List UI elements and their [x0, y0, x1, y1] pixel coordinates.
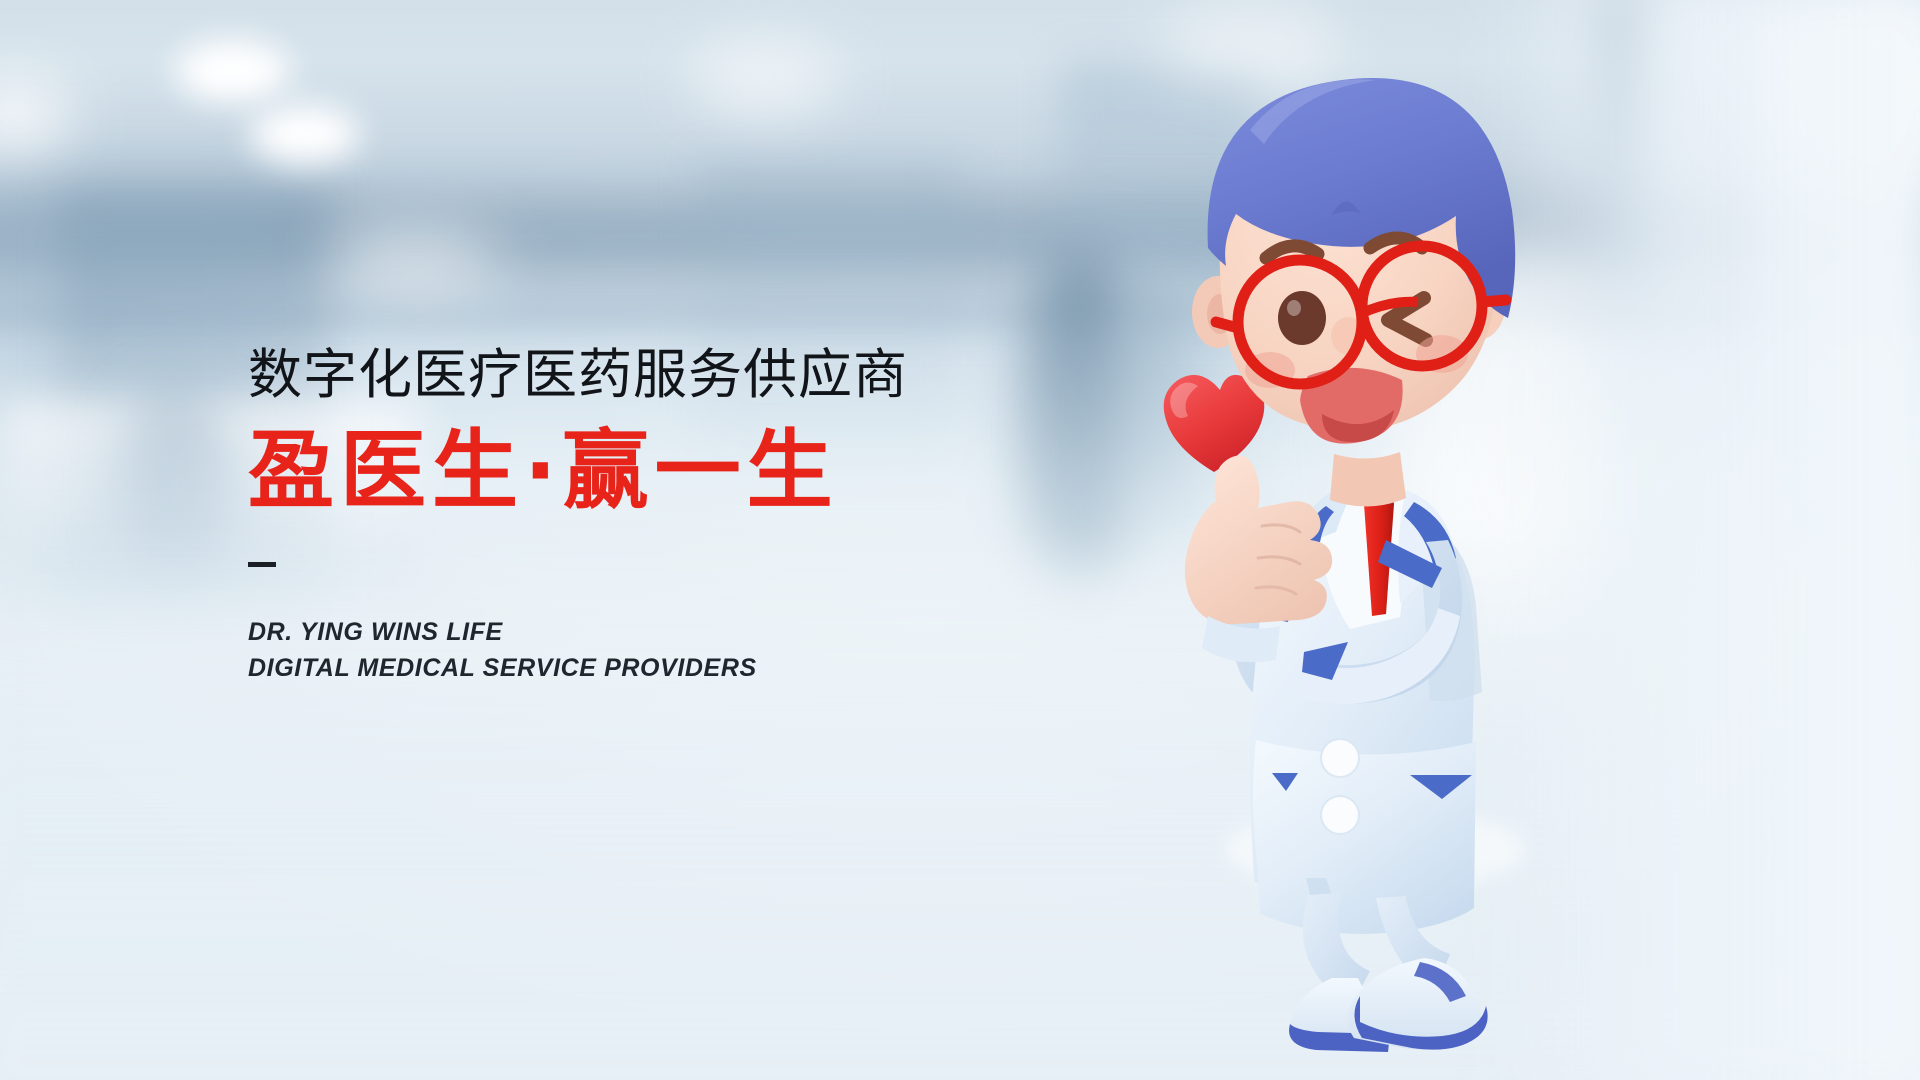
coat-button-top: [1321, 739, 1359, 777]
slogan-chinese: 盈医生·赢一生: [248, 428, 1008, 514]
subtitle-line-1: DR. YING WINS LIFE: [248, 615, 1008, 651]
divider-dash: [248, 562, 276, 567]
hand-left: [1185, 455, 1332, 624]
eye-open-left: [1278, 291, 1326, 345]
headline-chinese: 数字化医疗医药服务供应商: [248, 348, 1008, 402]
glasses-temple-left: [1216, 322, 1238, 328]
neck: [1330, 452, 1406, 507]
hero-copy: 数字化医疗医药服务供应商 盈医生·赢一生 DR. YING WINS LIFE …: [248, 348, 1008, 686]
coat-skirt: [1253, 740, 1476, 934]
eye-highlight-left: [1287, 300, 1301, 316]
doctor-mascot: [1180, 40, 1630, 1040]
hero-banner: 数字化医疗医药服务供应商 盈医生·赢一生 DR. YING WINS LIFE …: [0, 0, 1920, 1080]
subtitle-line-2: DIGITAL MEDICAL SERVICE PROVIDERS: [248, 651, 1008, 687]
subtitle-english: DR. YING WINS LIFE DIGITAL MEDICAL SERVI…: [248, 615, 1008, 686]
coat-button-bottom: [1321, 796, 1359, 834]
glasses-temple-right: [1482, 300, 1506, 302]
